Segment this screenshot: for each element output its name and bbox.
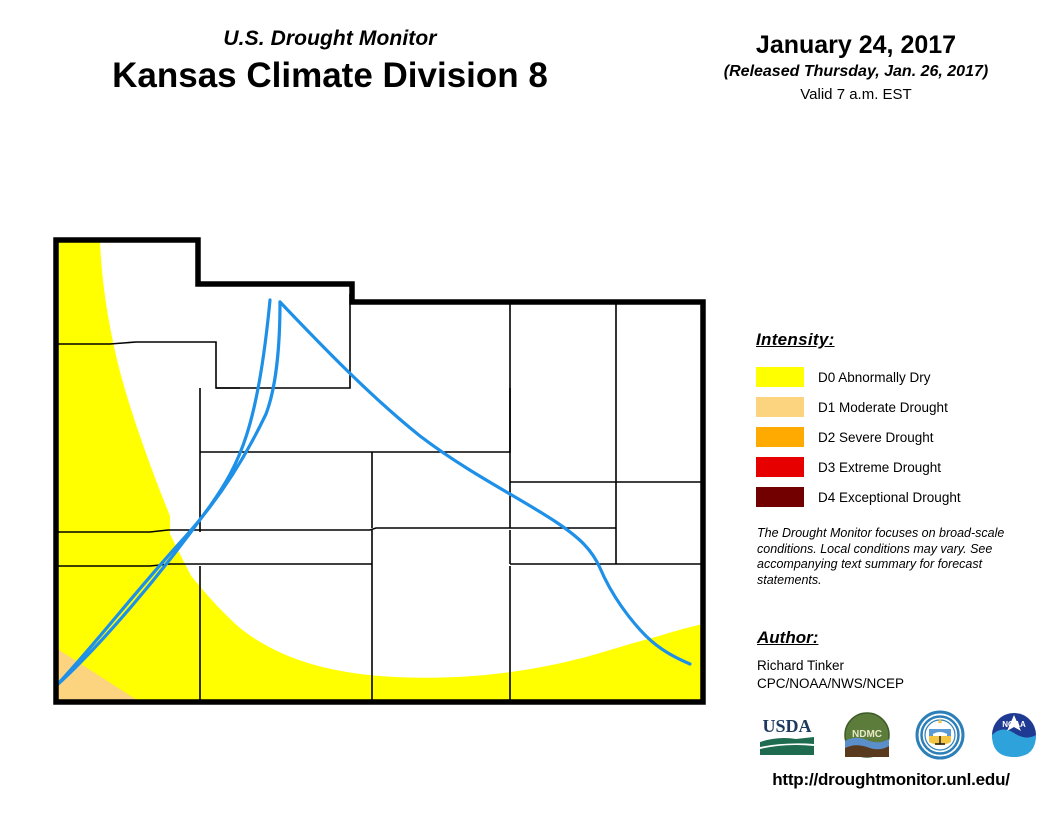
site-url[interactable]: http://droughtmonitor.unl.edu/ bbox=[736, 770, 1046, 790]
valid-time: Valid 7 a.m. EST bbox=[676, 85, 1036, 105]
author-block: Author: Richard Tinker CPC/NOAA/NWS/NCEP bbox=[757, 628, 1037, 693]
drought-map bbox=[40, 236, 716, 712]
legend-item-d2: D2 Severe Drought bbox=[756, 422, 1046, 452]
page-title: Kansas Climate Division 8 bbox=[0, 54, 660, 98]
header-right: January 24, 2017 (Released Thursday, Jan… bbox=[676, 30, 1036, 105]
valid-date: January 24, 2017 bbox=[676, 30, 1036, 60]
noaa-logo-text: NOAA bbox=[1002, 720, 1026, 729]
legend-item-d1: D1 Moderate Drought bbox=[756, 392, 1046, 422]
legend-item-d4: D4 Exceptional Drought bbox=[756, 482, 1046, 512]
header-left: U.S. Drought Monitor Kansas Climate Divi… bbox=[0, 26, 660, 98]
released-date: (Released Thursday, Jan. 26, 2017) bbox=[676, 61, 1036, 83]
legend-label-d3: D3 Extreme Drought bbox=[818, 460, 941, 475]
legend-label-d2: D2 Severe Drought bbox=[818, 430, 934, 445]
legend-swatch-d0 bbox=[756, 367, 804, 387]
drought-monitor-series-title: U.S. Drought Monitor bbox=[0, 26, 660, 52]
legend-swatch-d4 bbox=[756, 487, 804, 507]
map-base bbox=[40, 236, 716, 712]
legend-swatch-d3 bbox=[756, 457, 804, 477]
noaa-logo: NOAA bbox=[990, 711, 1038, 759]
logo-row: USDA NDMC NOAA bbox=[756, 706, 1038, 764]
disclaimer-text: The Drought Monitor focuses on broad-sca… bbox=[757, 526, 1025, 588]
legend-label-d0: D0 Abnormally Dry bbox=[818, 370, 931, 385]
author-heading: Author: bbox=[757, 628, 1037, 648]
author-name: Richard Tinker bbox=[757, 657, 1037, 675]
legend-item-d0: D0 Abnormally Dry bbox=[756, 362, 1046, 392]
legend-swatch-d2 bbox=[756, 427, 804, 447]
legend-swatch-d1 bbox=[756, 397, 804, 417]
usda-seal-logo bbox=[915, 710, 965, 760]
author-affiliation: CPC/NOAA/NWS/NCEP bbox=[757, 675, 1037, 693]
legend: Intensity: D0 Abnormally Dry D1 Moderate… bbox=[756, 330, 1046, 512]
usda-logo-text: USDA bbox=[762, 716, 811, 736]
legend-label-d1: D1 Moderate Drought bbox=[818, 400, 948, 415]
map-svg bbox=[40, 236, 716, 712]
usda-logo: USDA bbox=[756, 712, 818, 758]
legend-item-d3: D3 Extreme Drought bbox=[756, 452, 1046, 482]
legend-label-d4: D4 Exceptional Drought bbox=[818, 490, 961, 505]
legend-heading: Intensity: bbox=[756, 330, 1046, 350]
ndmc-logo: NDMC bbox=[843, 711, 891, 759]
ndmc-logo-text: NDMC bbox=[852, 729, 882, 740]
